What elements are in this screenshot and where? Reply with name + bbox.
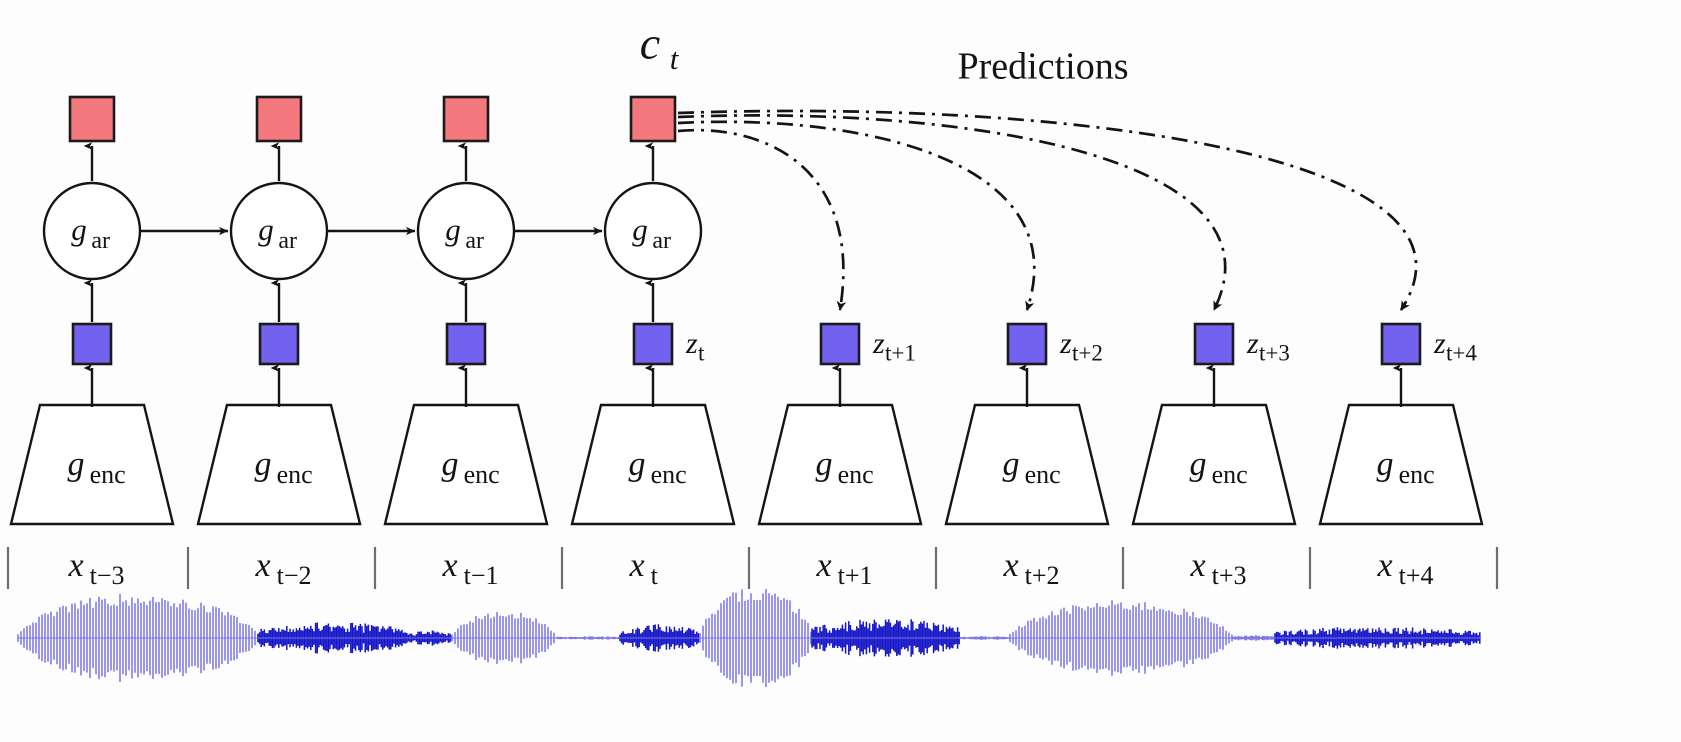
encoder-block[interactable]: genc (198, 405, 360, 524)
ar-symbol: g (258, 212, 274, 247)
latent-block[interactable]: zt+4 (1382, 324, 1477, 365)
context-vector-symbol: c (640, 18, 660, 69)
latent-block[interactable]: zt+2 (1008, 324, 1103, 365)
context-block-rect (257, 97, 301, 141)
input-subscript: t+1 (838, 561, 873, 590)
encoder-subscript: enc (838, 460, 874, 489)
encoder-to-latent-arrow-layer (92, 368, 1401, 407)
encoder-subscript: enc (90, 460, 126, 489)
input-label: xt−3 (67, 547, 124, 590)
input-label: xt+4 (1376, 547, 1433, 590)
latent-subscript: t+4 (1446, 340, 1477, 365)
input-subscript: t+2 (1025, 561, 1060, 590)
ar-symbol: g (632, 212, 648, 247)
ar-symbol: g (445, 212, 461, 247)
encoder-subscript: enc (1025, 460, 1061, 489)
input-symbol: x (1376, 547, 1392, 584)
encoder-subscript: enc (464, 460, 500, 489)
input-subscript: t−3 (90, 561, 125, 590)
input-label: xt (628, 547, 658, 590)
input-label-layer: xt−3xt−2xt−1xtxt+1xt+2xt+3xt+4 (67, 547, 1433, 590)
cpc-architecture-figure: gencgencgencgencgencgencgencgenc ztzt+1z… (0, 0, 1681, 742)
encoder-block[interactable]: genc (1320, 405, 1482, 524)
encoder-symbol: g (68, 446, 85, 483)
latent-label: zt (685, 327, 705, 365)
latent-subscript: t (698, 340, 705, 365)
encoder-subscript: enc (1212, 460, 1248, 489)
encoder-symbol: g (255, 446, 272, 483)
latent-subscript: t+1 (885, 340, 916, 365)
latent-symbol: z (872, 327, 885, 360)
input-symbol: x (67, 547, 83, 584)
prediction-arrow (678, 111, 1416, 310)
ar-symbol: g (71, 212, 87, 247)
context-vector-label: c t (640, 18, 680, 77)
latent-label: zt+2 (1059, 327, 1103, 365)
ar-subscript: ar (278, 228, 297, 254)
latent-block[interactable]: zt (634, 324, 705, 365)
prediction-arrow (678, 130, 843, 310)
latent-to-ar-arrow-layer (92, 283, 653, 322)
context-block-rect (631, 97, 675, 141)
latent-label: zt+4 (1433, 327, 1477, 365)
autoregressive-block[interactable]: gar (418, 183, 514, 279)
latent-label: zt+1 (872, 327, 916, 365)
input-label: xt+1 (815, 547, 872, 590)
latent-block-rect (447, 324, 485, 364)
context-layer (70, 97, 675, 141)
latent-block[interactable]: zt+3 (1195, 324, 1290, 365)
encoder-layer: gencgencgencgencgencgencgencgenc (11, 405, 1482, 524)
prediction-arrow (678, 122, 1034, 310)
encoder-symbol: g (816, 446, 833, 483)
encoder-symbol: g (442, 446, 459, 483)
latent-block-rect (260, 324, 298, 364)
latent-block[interactable] (73, 324, 111, 364)
encoder-subscript: enc (277, 460, 313, 489)
input-symbol: x (254, 547, 270, 584)
predictions-label: Predictions (958, 46, 1129, 88)
latent-block-rect (1382, 324, 1420, 364)
latent-block[interactable] (260, 324, 298, 364)
latent-block-rect (634, 324, 672, 364)
latent-symbol: z (1246, 327, 1259, 360)
ar-subscript: ar (91, 228, 110, 254)
autoregressive-block[interactable]: gar (605, 183, 701, 279)
ar-to-context-arrow-layer (92, 146, 653, 181)
ar-subscript: ar (652, 228, 671, 254)
encoder-subscript: enc (1399, 460, 1435, 489)
latent-block[interactable]: zt+1 (821, 324, 916, 365)
timestep-separator-layer (8, 547, 1497, 589)
waveform-layer (18, 589, 1480, 687)
encoder-block[interactable]: genc (1133, 405, 1295, 524)
input-label: xt+2 (1002, 547, 1059, 590)
context-block[interactable] (631, 97, 675, 141)
encoder-symbol: g (629, 446, 646, 483)
latent-block-rect (73, 324, 111, 364)
context-vector-subscript: t (670, 41, 680, 76)
input-subscript: t+3 (1212, 561, 1247, 590)
context-block[interactable] (257, 97, 301, 141)
latent-subscript: t+2 (1072, 340, 1103, 365)
latent-block-rect (1008, 324, 1046, 364)
input-symbol: x (628, 547, 644, 584)
latent-layer: ztzt+1zt+2zt+3zt+4 (73, 324, 1477, 365)
input-subscript: t−1 (464, 561, 499, 590)
context-block[interactable] (70, 97, 114, 141)
autoregressive-block[interactable]: gar (231, 183, 327, 279)
input-label: xt−1 (441, 547, 498, 590)
context-block[interactable] (444, 97, 488, 141)
context-block-rect (444, 97, 488, 141)
latent-symbol: z (1433, 327, 1446, 360)
input-label: xt−2 (254, 547, 311, 590)
encoder-block[interactable]: genc (759, 405, 921, 524)
latent-block-rect (821, 324, 859, 364)
input-symbol: x (1189, 547, 1205, 584)
autoregressive-block[interactable]: gar (44, 183, 140, 279)
input-symbol: x (815, 547, 831, 584)
encoder-symbol: g (1377, 446, 1394, 483)
encoder-block[interactable]: genc (572, 405, 734, 524)
encoder-block[interactable]: genc (11, 405, 173, 524)
latent-symbol: z (685, 327, 698, 360)
latent-label: zt+3 (1246, 327, 1290, 365)
latent-symbol: z (1059, 327, 1072, 360)
input-symbol: x (1002, 547, 1018, 584)
input-subscript: t+4 (1399, 561, 1434, 590)
latent-block[interactable] (447, 324, 485, 364)
context-block-rect (70, 97, 114, 141)
encoder-subscript: enc (651, 460, 687, 489)
input-subscript: t−2 (277, 561, 312, 590)
encoder-block[interactable]: genc (385, 405, 547, 524)
prediction-arrow (678, 115, 1225, 310)
prediction-arrow-layer (678, 111, 1416, 310)
input-symbol: x (441, 547, 457, 584)
encoder-symbol: g (1003, 446, 1020, 483)
input-label: xt+3 (1189, 547, 1246, 590)
ar-subscript: ar (465, 228, 484, 254)
encoder-block[interactable]: genc (946, 405, 1108, 524)
latent-block-rect (1195, 324, 1233, 364)
input-subscript: t (651, 561, 659, 590)
encoder-symbol: g (1190, 446, 1207, 483)
latent-subscript: t+3 (1259, 340, 1290, 365)
